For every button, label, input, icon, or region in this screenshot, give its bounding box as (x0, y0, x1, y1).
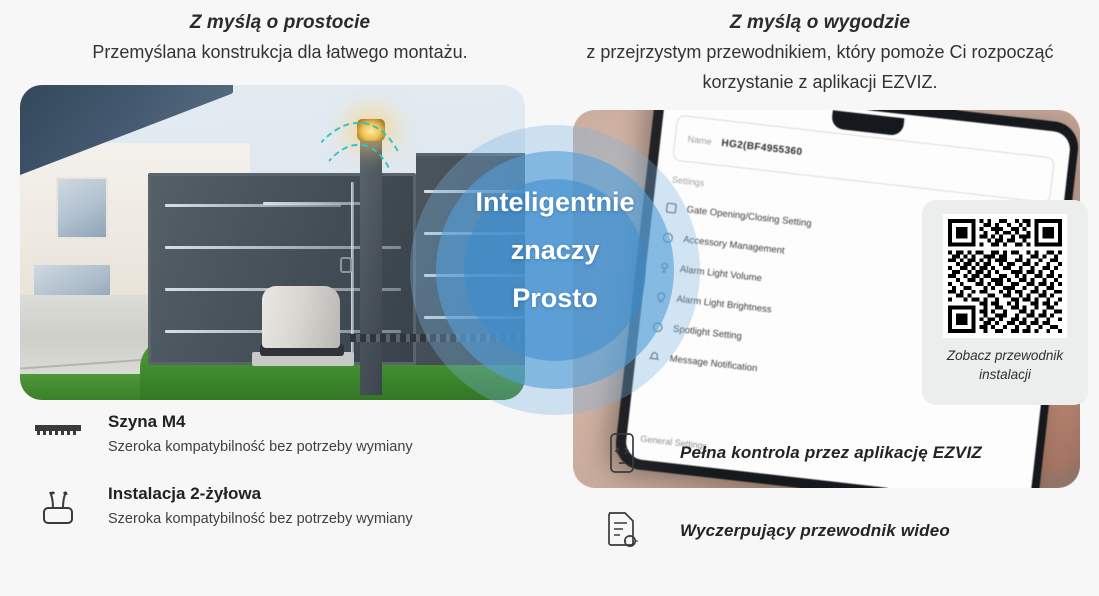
feature-item-rail: Szyna M4 Szeroka kompatybilność bez potr… (30, 408, 550, 458)
document-gear-icon (600, 510, 644, 552)
feature-item-app-control: Pełna kontrola przez aplikację EZVIZ (600, 432, 1080, 474)
feature-item-two-wire: Instalacja 2-żyłowa Szeroka kompatybilno… (30, 480, 550, 530)
qr-caption-line-1: Zobacz przewodnik (930, 346, 1080, 365)
house-window-upper (56, 177, 108, 239)
qr-code-image (943, 214, 1067, 338)
right-feature-list: Pełna kontrola przez aplikację EZVIZ Wyc… (600, 432, 1080, 588)
feature-description: Szeroka kompatybilność bez potrzeby wymi… (108, 436, 413, 458)
feature-label: Pełna kontrola przez aplikację EZVIZ (680, 443, 982, 463)
slogan-line-3: Prosto (415, 274, 695, 322)
feature-description: Szeroka kompatybilność bez potrzeby wymi… (108, 508, 413, 530)
toothed-rail-icon (30, 422, 86, 444)
right-heading-subtitle-line1: z przejrzystym przewodnikiem, który pomo… (560, 38, 1080, 66)
feature-text-two-wire: Instalacja 2-żyłowa Szeroka kompatybilno… (108, 480, 413, 530)
qr-guide-card[interactable]: Zobacz przewodnik instalacji (922, 200, 1088, 405)
phone-notch (831, 110, 905, 136)
feature-title: Szyna M4 (108, 410, 413, 434)
remote-control-icon (600, 432, 644, 474)
qr-card-caption: Zobacz przewodnik instalacji (930, 346, 1080, 384)
sliding-gate-motor (262, 286, 340, 348)
two-wire-terminal-icon (30, 483, 86, 527)
feature-title: Instalacja 2-żyłowa (108, 482, 413, 506)
right-heading-title: Z myślą o wygodzie (560, 10, 1080, 36)
slogan-line-2: znaczy (415, 226, 695, 274)
left-heading-subtitle: Przemyślana konstrukcja dla łatwego mont… (20, 38, 540, 66)
left-heading-block: Z myślą o prostocie Przemyślana konstruk… (20, 10, 540, 66)
center-slogan: Inteligentnie znaczy Prosto (415, 178, 695, 322)
right-heading-block: Z myślą o wygodzie z przejrzystym przewo… (560, 10, 1080, 96)
left-feature-list: Szyna M4 Szeroka kompatybilność bez potr… (30, 408, 550, 552)
app-list-item-label: Gate Opening/Closing Setting (686, 204, 812, 229)
qr-caption-line-2: instalacji (930, 365, 1080, 384)
promo-page: Z myślą o prostocie Przemyślana konstruk… (0, 0, 1099, 596)
lawn-left (20, 374, 140, 400)
slogan-line-1: Inteligentnie (415, 178, 695, 226)
device-name-value: HG2(BF4955360 (721, 137, 803, 157)
feature-item-video-guide: Wyczerpujący przewodnik wideo (600, 510, 1080, 552)
feature-text-rail: Szyna M4 Szeroka kompatybilność bez potr… (108, 408, 413, 458)
left-heading-title: Z myślą o prostocie (20, 10, 540, 36)
feature-label: Wyczerpujący przewodnik wideo (680, 521, 950, 541)
